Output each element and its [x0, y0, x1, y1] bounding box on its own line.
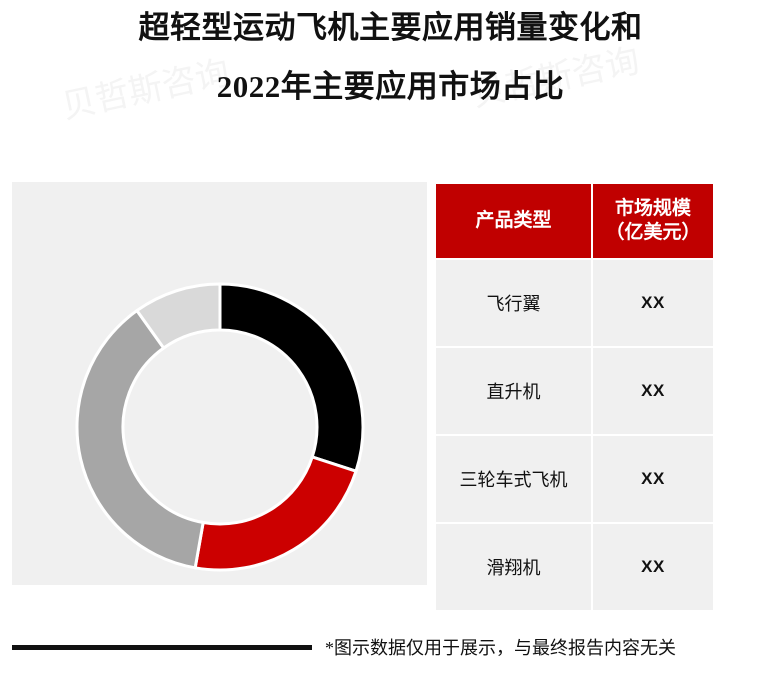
table-row: 直升机XX: [436, 348, 713, 434]
table-cell-market-size: XX: [593, 348, 713, 434]
donut-chart: [12, 182, 427, 585]
table-header-row: 产品类型 市场规模 （亿美元）: [436, 184, 713, 258]
table-header-market-size-line-2: （亿美元）: [597, 221, 709, 245]
table-row: 三轮车式飞机XX: [436, 436, 713, 522]
table-body: 飞行翼XX直升机XX三轮车式飞机XX滑翔机XX: [436, 260, 713, 610]
table-cell-product-type: 滑翔机: [436, 524, 591, 610]
page-title-line-2: 2022年主要应用市场占比: [0, 71, 781, 102]
donut-slice: [220, 284, 363, 471]
donut-slice: [77, 311, 203, 568]
table-cell-product-type: 三轮车式飞机: [436, 436, 591, 522]
market-size-table-panel: 产品类型 市场规模 （亿美元） 飞行翼XX直升机XX三轮车式飞机XX滑翔机XX: [434, 182, 711, 612]
donut-chart-svg: [12, 182, 427, 585]
table-header-market-size-line-1: 市场规模: [597, 197, 709, 221]
table-header-product-type: 产品类型: [436, 184, 591, 258]
market-size-table: 产品类型 市场规模 （亿美元） 飞行翼XX直升机XX三轮车式飞机XX滑翔机XX: [434, 182, 715, 612]
table-cell-product-type: 飞行翼: [436, 260, 591, 346]
table-cell-market-size: XX: [593, 436, 713, 522]
page-title-line-1: 超轻型运动飞机主要应用销量变化和: [0, 12, 781, 43]
table-cell-market-size: XX: [593, 524, 713, 610]
table-header: 产品类型 市场规模 （亿美元）: [436, 184, 713, 258]
page-title: 超轻型运动飞机主要应用销量变化和 2022年主要应用市场占比: [0, 12, 781, 102]
table-cell-market-size: XX: [593, 260, 713, 346]
footer-note: *图示数据仅用于展示，与最终报告内容无关: [325, 634, 676, 660]
table-header-market-size: 市场规模 （亿美元）: [593, 184, 713, 258]
donut-slice: [195, 457, 356, 570]
table-cell-product-type: 直升机: [436, 348, 591, 434]
table-row: 飞行翼XX: [436, 260, 713, 346]
table-row: 滑翔机XX: [436, 524, 713, 610]
donut-slice-group: [77, 284, 363, 570]
chart-panel: [12, 182, 427, 585]
footer-divider: [12, 645, 312, 650]
